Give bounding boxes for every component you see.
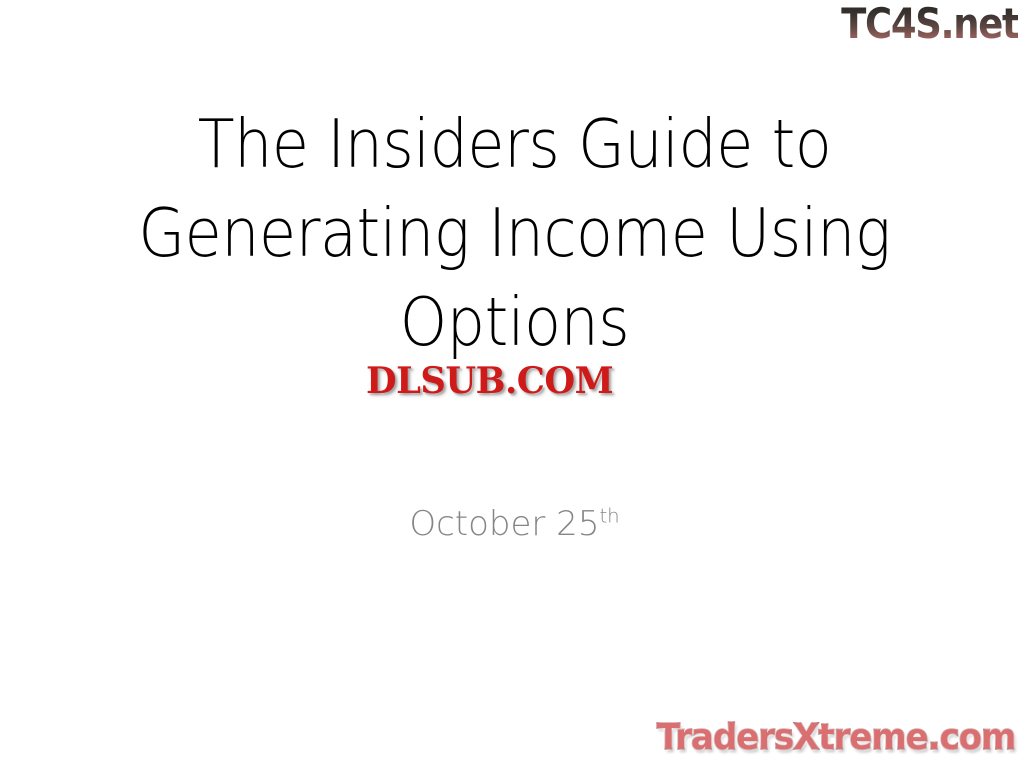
- tradersxtreme-logo: TradersXtreme.com: [657, 719, 1015, 757]
- dlsub-watermark: DLSUB.COM: [366, 361, 613, 401]
- title-line-1: The Insiders Guide to: [107, 100, 922, 189]
- subtitle-date: October 25: [409, 504, 599, 544]
- slide-subtitle: October 25th: [62, 503, 967, 545]
- title-line-2: Generating Income Using: [107, 189, 922, 278]
- tc4s-site-logo: TC4S.net: [841, 2, 1018, 46]
- slide-title: The Insiders Guide to Generating Income …: [62, 100, 967, 367]
- title-line-3: Options: [107, 278, 922, 367]
- presentation-slide: TC4S.net The Insiders Guide to Generatin…: [0, 0, 1024, 768]
- subtitle-ordinal-suffix: th: [599, 505, 619, 528]
